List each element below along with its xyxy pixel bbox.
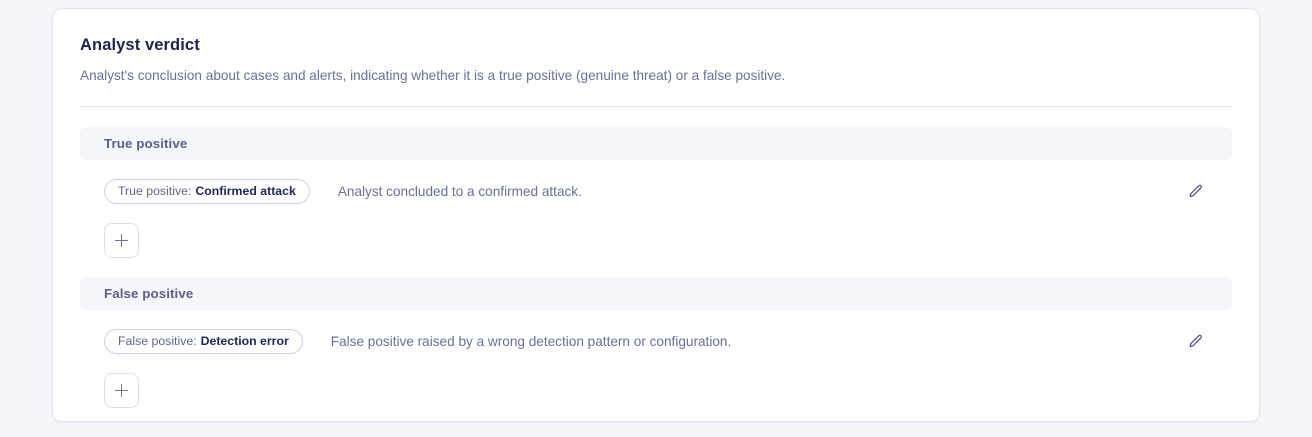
spacer-above-true-positive xyxy=(80,107,1232,127)
verdict-chip-prefix: True positive: xyxy=(118,185,191,197)
analyst-verdict-card: Analyst verdict Analyst's conclusion abo… xyxy=(52,8,1260,422)
spacer-above-false-positive xyxy=(80,258,1232,277)
verdict-description-true-positive: Analyst concluded to a confirmed attack. xyxy=(338,184,582,199)
section-header-false-positive: False positive xyxy=(80,277,1232,310)
verdict-chip-value: Detection error xyxy=(201,335,289,347)
card-inner: Analyst verdict Analyst's conclusion abo… xyxy=(53,9,1259,408)
verdict-chip-prefix: False positive: xyxy=(118,335,197,347)
add-row-false-positive xyxy=(80,373,1232,408)
verdict-chip-value: Confirmed attack xyxy=(195,185,295,197)
verdict-chip-true-positive[interactable]: True positive: Confirmed attack xyxy=(104,179,310,204)
section-header-true-positive-label: True positive xyxy=(104,136,187,151)
plus-icon xyxy=(115,384,128,397)
add-row-true-positive xyxy=(80,223,1232,258)
page-title: Analyst verdict xyxy=(80,35,1232,55)
page-root: Analyst verdict Analyst's conclusion abo… xyxy=(0,0,1312,437)
verdict-row-false-positive: False positive: Detection error False po… xyxy=(80,324,1232,358)
plus-icon xyxy=(115,234,128,247)
verdict-chip-false-positive[interactable]: False positive: Detection error xyxy=(104,329,303,354)
edit-button-false-positive[interactable] xyxy=(1182,328,1208,354)
edit-button-true-positive[interactable] xyxy=(1182,178,1208,204)
section-header-false-positive-label: False positive xyxy=(104,286,193,301)
section-header-true-positive: True positive xyxy=(80,127,1232,160)
verdict-description-false-positive: False positive raised by a wrong detecti… xyxy=(331,334,732,349)
verdict-row-true-positive: True positive: Confirmed attack Analyst … xyxy=(80,174,1232,208)
pencil-icon xyxy=(1187,183,1204,200)
add-verdict-button-true-positive[interactable] xyxy=(104,223,139,258)
pencil-icon xyxy=(1187,333,1204,350)
card-description: Analyst's conclusion about cases and ale… xyxy=(80,67,1232,85)
add-verdict-button-false-positive[interactable] xyxy=(104,373,139,408)
